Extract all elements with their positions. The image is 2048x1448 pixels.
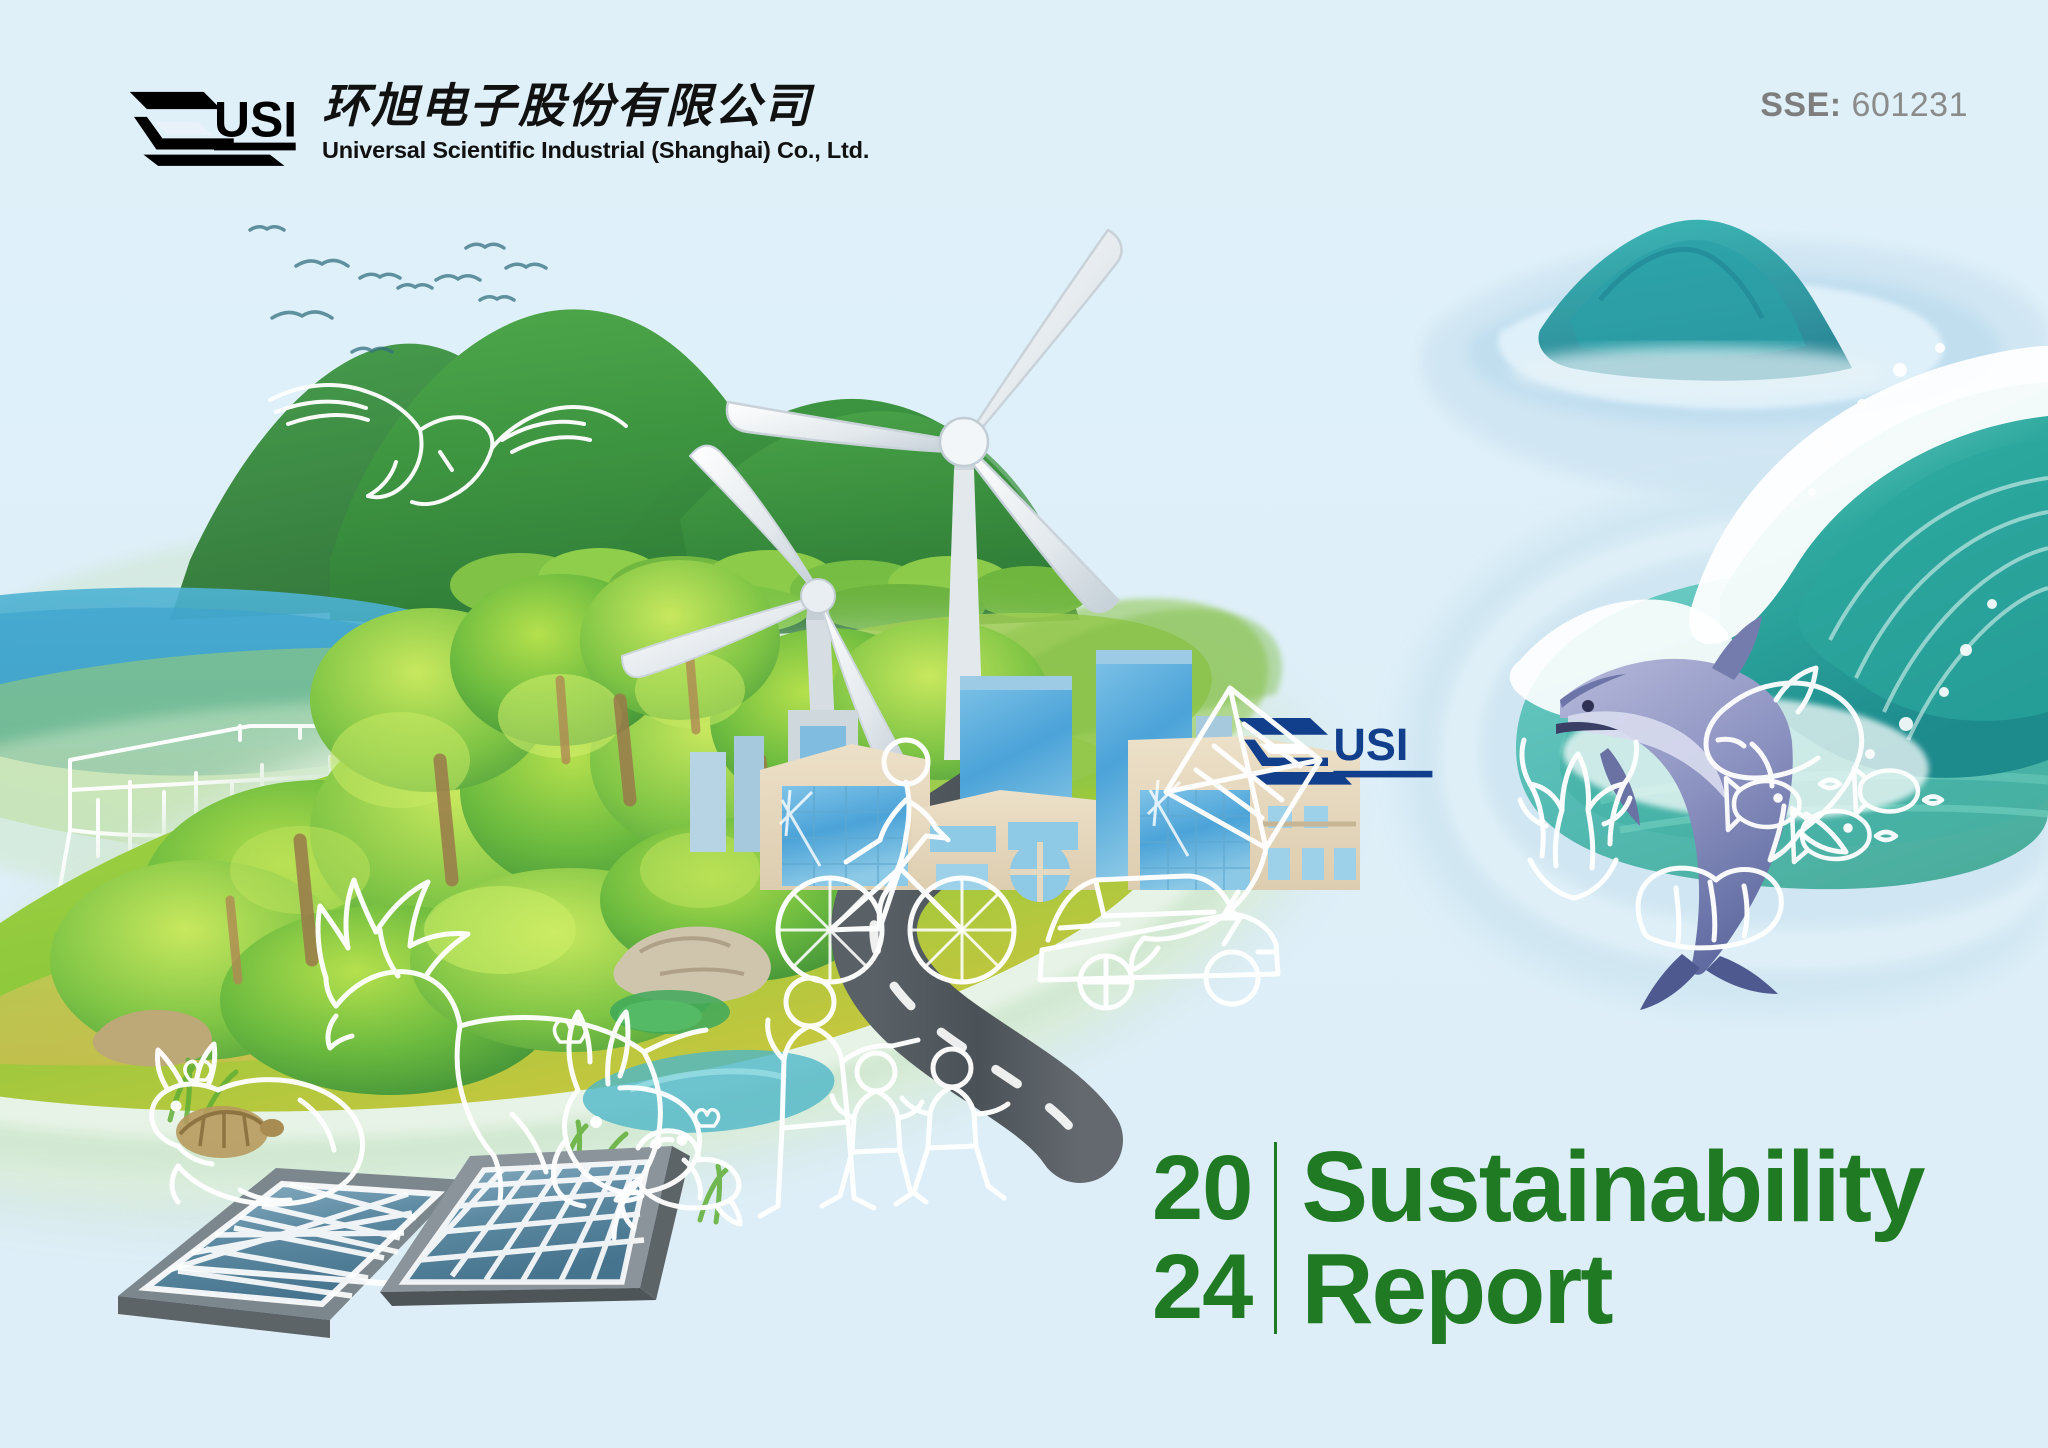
usi-logo-on-building: USI — [1238, 718, 1432, 785]
exchange-label: SSE: — [1760, 86, 1841, 124]
title-word-top: Sustainability — [1301, 1136, 1923, 1238]
title-divider — [1274, 1142, 1277, 1334]
usi-logo-mark: USI — [128, 84, 300, 166]
usi-logo: USI 环旭电子股份有限公司 Universal Scientific Indu… — [128, 82, 869, 166]
report-year: 20 24 — [1152, 1136, 1252, 1340]
ticker-number: 601231 — [1852, 86, 1968, 124]
cover-header: USI 环旭电子股份有限公司 Universal Scientific Indu… — [0, 0, 2048, 200]
ocean-scene — [1400, 220, 2048, 1013]
title-word-bottom: Report — [1301, 1238, 1923, 1340]
svg-text:USI: USI — [1333, 719, 1408, 770]
year-bottom: 24 — [1152, 1238, 1252, 1337]
company-name-cn: 环旭电子股份有限公司 — [322, 82, 869, 131]
stock-listing: SSE: 601231 — [1760, 86, 1968, 125]
report-cover: USI — [0, 0, 2048, 1448]
company-name-en: Universal Scientific Industrial (Shangha… — [322, 137, 869, 164]
report-title-words: Sustainability Report — [1301, 1136, 1923, 1340]
year-top: 20 — [1152, 1139, 1252, 1238]
report-title: 20 24 Sustainability Report — [1152, 1136, 1924, 1340]
svg-text:USI: USI — [214, 92, 297, 148]
